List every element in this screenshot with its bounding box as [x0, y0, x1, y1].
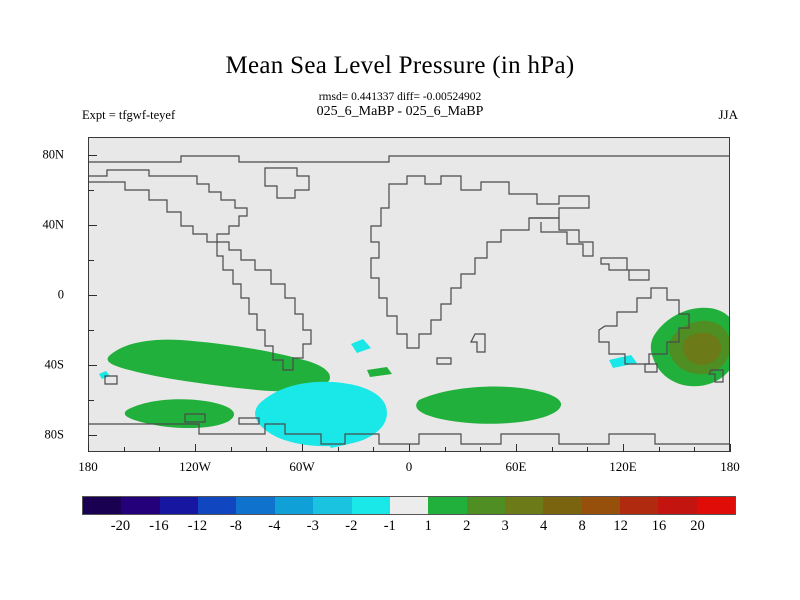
colorbar-tick-label: -2 — [345, 518, 357, 535]
colorbar-swatch[interactable] — [313, 497, 351, 514]
lat-minor-tick — [88, 330, 94, 331]
colorbar-swatch[interactable] — [505, 497, 543, 514]
colorbar-swatch[interactable] — [83, 497, 121, 514]
colorbar-swatch[interactable] — [428, 497, 466, 514]
world-map-contour-plot — [89, 138, 729, 451]
colorbar-tick-label: 1 — [425, 518, 432, 535]
colorbar-tick-label: 4 — [540, 518, 547, 535]
lon-minor-tick — [338, 447, 339, 452]
colorbar-swatch[interactable] — [236, 497, 274, 514]
lon-major-tick — [516, 444, 517, 452]
lon-tick-label: 180 — [78, 459, 98, 475]
lon-major-tick — [623, 444, 624, 452]
colorbar-tick-label: -20 — [111, 518, 130, 535]
lon-minor-tick — [694, 447, 695, 452]
lon-minor-tick — [231, 447, 232, 452]
colorbar-tick-label: 20 — [690, 518, 705, 535]
lat-tick-label: 80S — [45, 427, 64, 442]
colorbar-tick-label: -4 — [268, 518, 280, 535]
colorbar-swatch[interactable] — [658, 497, 696, 514]
colorbar-tick-label: 2 — [463, 518, 470, 535]
colorbar[interactable] — [82, 496, 736, 515]
lon-major-tick — [88, 444, 89, 452]
lat-tick-label: 80N — [42, 147, 64, 162]
map-plot-area[interactable] — [88, 137, 730, 452]
colorbar-tick-label: 8 — [578, 518, 585, 535]
colorbar-tick-label: 16 — [652, 518, 667, 535]
colorbar-swatch[interactable] — [198, 497, 236, 514]
lat-major-tick — [88, 435, 97, 436]
lat-major-tick — [88, 365, 97, 366]
lon-minor-tick — [552, 447, 553, 452]
lat-major-tick — [88, 155, 97, 156]
lon-minor-tick — [159, 447, 160, 452]
lat-minor-tick — [88, 190, 94, 191]
colorbar-swatch[interactable] — [467, 497, 505, 514]
colorbar-tick-label: -8 — [230, 518, 242, 535]
lon-minor-tick — [659, 447, 660, 452]
lon-tick-label: 180 — [720, 459, 740, 475]
colorbar-swatch[interactable] — [390, 497, 428, 514]
lon-major-tick — [730, 444, 731, 452]
lon-major-tick — [409, 444, 410, 452]
anomaly-speck-australia — [609, 355, 637, 368]
season-label: JJA — [718, 107, 738, 123]
anomaly-contour-fills — [99, 308, 729, 448]
lon-minor-tick — [587, 447, 588, 452]
lon-tick-label: 60E — [506, 459, 527, 475]
lon-minor-tick — [480, 447, 481, 452]
colorbar-swatch[interactable] — [352, 497, 390, 514]
colorbar-swatch[interactable] — [543, 497, 581, 514]
colorbar-tick-label: 3 — [502, 518, 509, 535]
lon-major-tick — [195, 444, 196, 452]
lon-minor-tick — [124, 447, 125, 452]
lat-tick-label: 40S — [45, 357, 64, 372]
colorbar-swatch[interactable] — [697, 497, 735, 514]
colorbar-tick-label: -12 — [188, 518, 207, 535]
lon-tick-label: 120W — [179, 459, 211, 475]
lon-tick-label: 120E — [609, 459, 636, 475]
colorbar-swatch[interactable] — [620, 497, 658, 514]
lon-minor-tick — [445, 447, 446, 452]
colorbar-tick-labels: -20-16-12-8-4-3-2-112348121620 — [82, 518, 736, 538]
anomaly-speck-south-africa — [351, 339, 371, 353]
colorbar-tick-label: -16 — [149, 518, 168, 535]
lon-tick-label: 60W — [289, 459, 314, 475]
colorbar-swatch[interactable] — [582, 497, 620, 514]
lat-tick-label: 0 — [58, 287, 64, 302]
lon-major-tick — [302, 444, 303, 452]
statistics-annotation: rmsd= 0.441337 diff= -0.00524902 — [0, 91, 800, 103]
colorbar-swatch[interactable] — [275, 497, 313, 514]
lon-tick-label: 0 — [406, 459, 413, 475]
colorbar-tick-label: -1 — [384, 518, 396, 535]
anomaly-speck-mid-atlantic — [367, 367, 392, 377]
lat-major-tick — [88, 225, 97, 226]
anomaly-region-south-pacific — [108, 340, 330, 392]
lon-minor-tick — [373, 447, 374, 452]
lat-minor-tick — [88, 260, 94, 261]
lat-tick-label: 40N — [42, 217, 64, 232]
colorbar-swatch[interactable] — [121, 497, 159, 514]
experiment-label: Expt = tfgwf-teyef — [82, 108, 175, 123]
lat-major-tick — [88, 295, 97, 296]
lon-minor-tick — [266, 447, 267, 452]
page-title: Mean Sea Level Pressure (in hPa) — [0, 52, 800, 80]
colorbar-swatch[interactable] — [160, 497, 198, 514]
lat-minor-tick — [88, 400, 94, 401]
anomaly-region-south-indian — [416, 387, 561, 424]
colorbar-tick-label: -3 — [307, 518, 319, 535]
colorbar-tick-label: 12 — [613, 518, 628, 535]
